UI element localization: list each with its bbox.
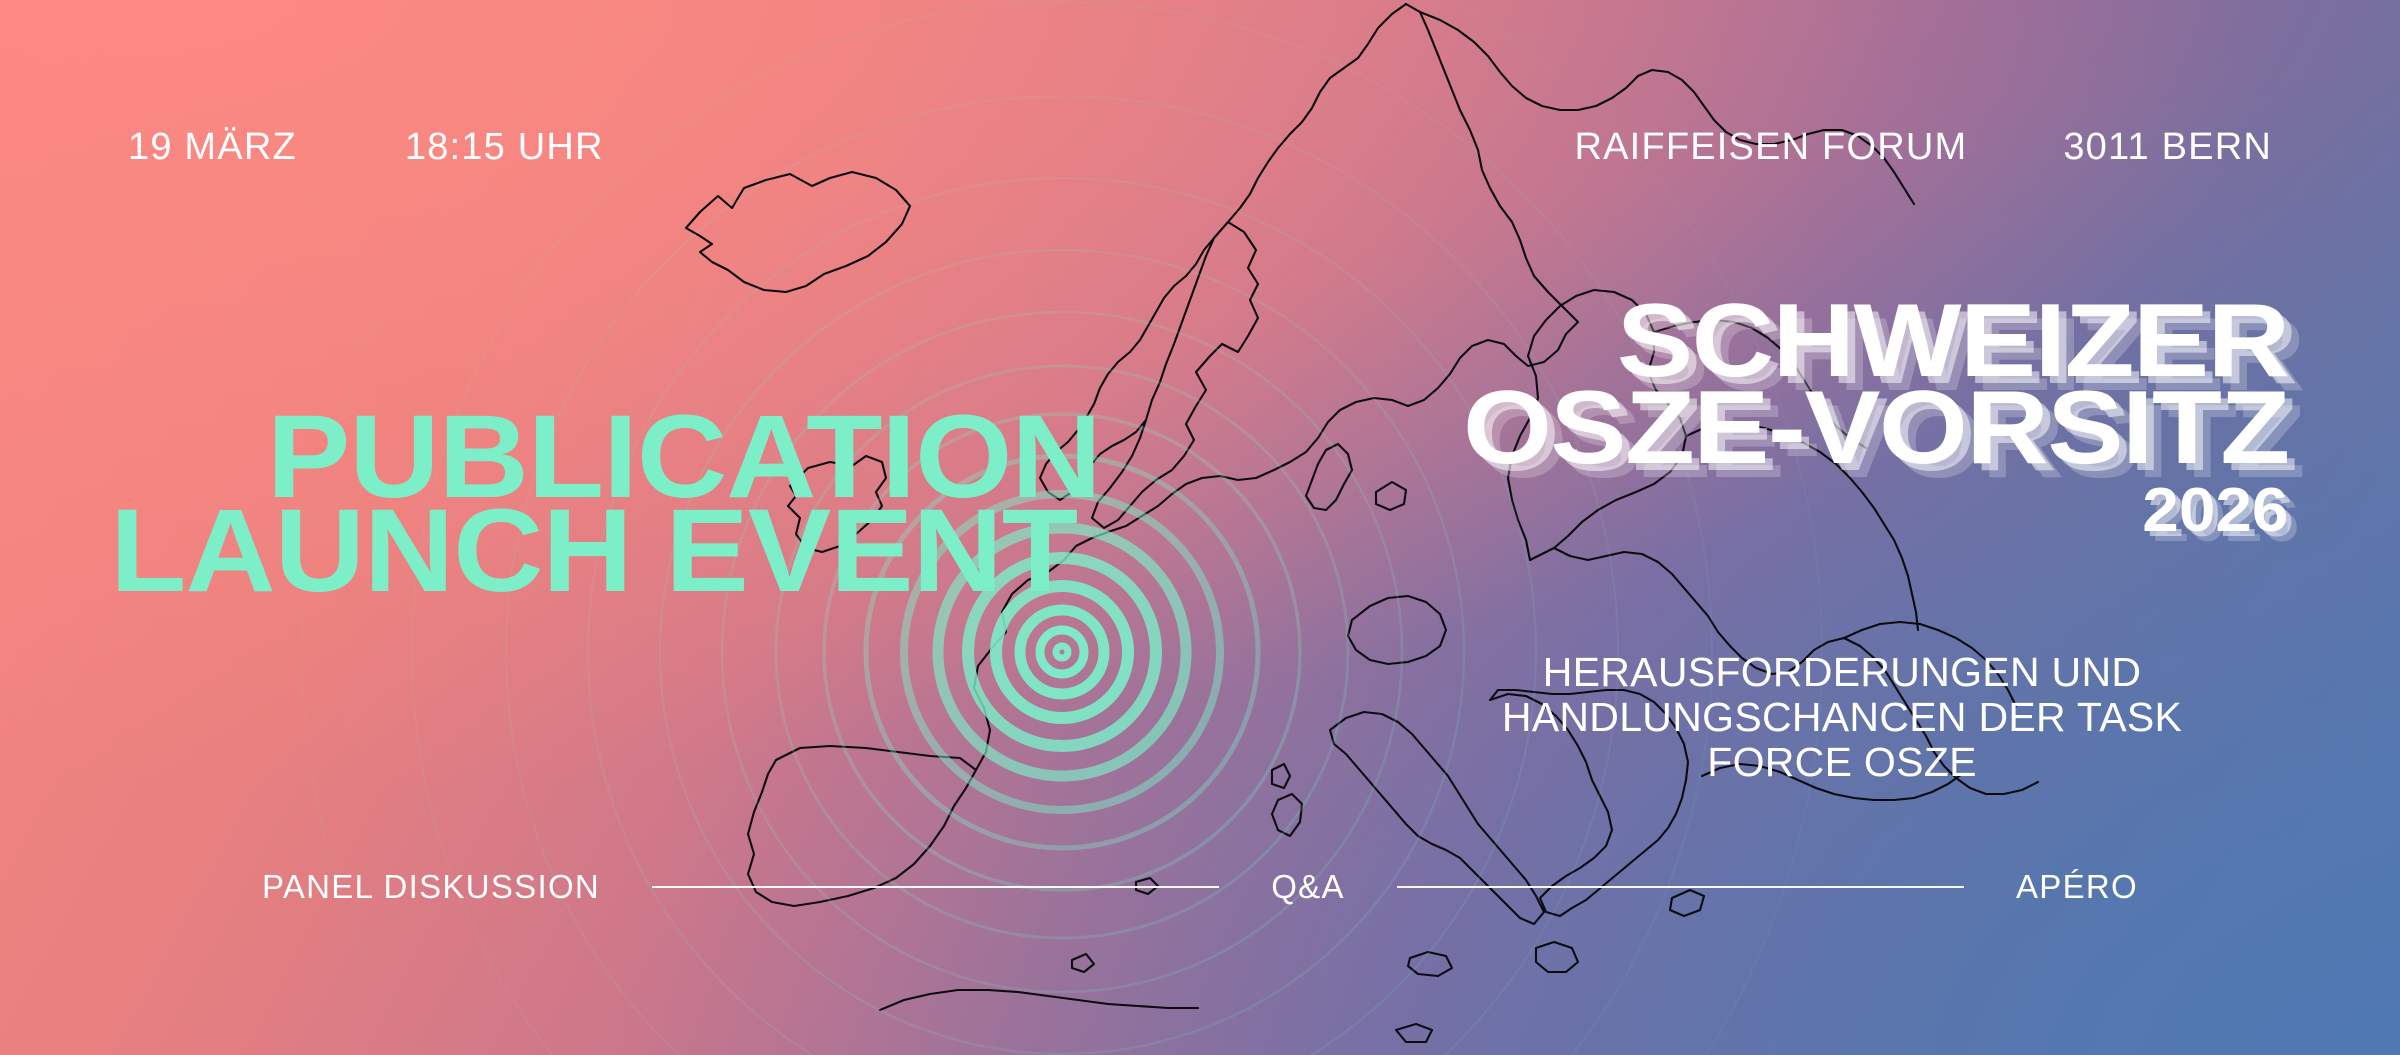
program-item-qa: Q&A	[1271, 868, 1345, 906]
program-divider-2	[1397, 886, 1964, 888]
program-item-apero: APÉRO	[2016, 868, 2138, 906]
event-banner: 19 MÄRZ 18:15 UHR RAIFFEISEN FORUM 3011 …	[0, 0, 2400, 1055]
program-item-panel-diskussion: PANEL DISKUSSION	[262, 868, 600, 906]
event-location: 3011 BERN	[2063, 126, 2272, 169]
subtitle-line3: FORCE OSZE	[1402, 740, 2282, 785]
event-venue: RAIFFEISEN FORUM	[1574, 126, 1967, 169]
main-title-year: 2026	[1492, 479, 2288, 542]
headline-green-line2: LAUNCH EVENT	[110, 504, 1101, 598]
event-date: 19 MÄRZ	[128, 126, 297, 169]
subtitle-line1: HERAUSFORDERUNGEN UND	[1402, 650, 2282, 695]
subtitle-line2: HANDLUNGSCHANCEN DER TASK	[1402, 695, 2282, 740]
meta-left-group: 19 MÄRZ 18:15 UHR	[128, 126, 604, 169]
subtitle-block: HERAUSFORDERUNGEN UND HANDLUNGSCHANCEN D…	[1402, 650, 2282, 785]
main-title-block: SCHWEIZER OSZE-VORSITZ 2026	[1538, 298, 2288, 542]
main-title-line2: OSZE-VORSITZ	[1462, 385, 2288, 472]
event-time: 18:15 UHR	[405, 126, 604, 169]
program-divider-1	[652, 886, 1219, 888]
program-row: PANEL DISKUSSION Q&A APÉRO	[262, 868, 2138, 906]
headline-green: PUBLICATION LAUNCH EVENT	[110, 410, 1101, 599]
meta-right-group: RAIFFEISEN FORUM 3011 BERN	[1574, 126, 2272, 169]
